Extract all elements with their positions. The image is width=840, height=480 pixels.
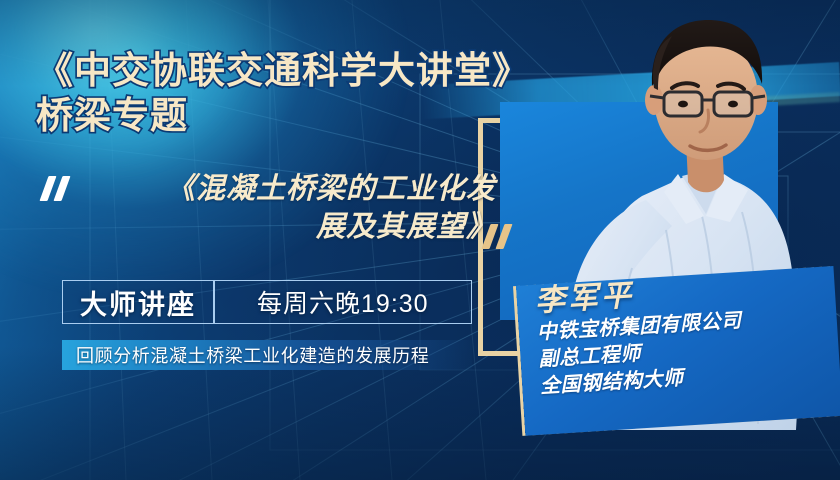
page-title: 《中交协联交通科学大讲堂》 桥梁专题 xyxy=(36,48,506,138)
topic-text: 《混凝土桥梁的工业化发 展及其展望》 xyxy=(86,170,496,246)
quote-close-icon xyxy=(486,224,508,249)
quote-open-icon xyxy=(44,176,66,201)
title-line-1: 《中交协联交通科学大讲堂》 xyxy=(36,48,506,93)
topic-line-2: 展及其展望》 xyxy=(86,208,496,246)
schedule-box: 大师讲座 每周六晚19:30 xyxy=(62,280,472,324)
topic-line-1: 《混凝土桥梁的工业化发 xyxy=(86,170,496,208)
summary-bar: 回顾分析混凝土桥梁工业化建造的发展历程 xyxy=(62,340,472,370)
schedule-time: 每周六晚19:30 xyxy=(215,284,471,320)
speaker-info: 李军平 中铁宝桥集团有限公司 副总工程师 全国钢结构大师 xyxy=(534,267,830,401)
lecture-poster: 《中交协联交通科学大讲堂》 桥梁专题 《混凝土桥梁的工业化发 展及其展望》 大师… xyxy=(0,0,840,480)
schedule-label: 大师讲座 xyxy=(63,283,213,322)
lecture-topic: 《混凝土桥梁的工业化发 展及其展望》 xyxy=(40,170,540,270)
title-line-2: 桥梁专题 xyxy=(36,93,506,138)
summary-text: 回顾分析混凝土桥梁工业化建造的发展历程 xyxy=(62,342,429,368)
